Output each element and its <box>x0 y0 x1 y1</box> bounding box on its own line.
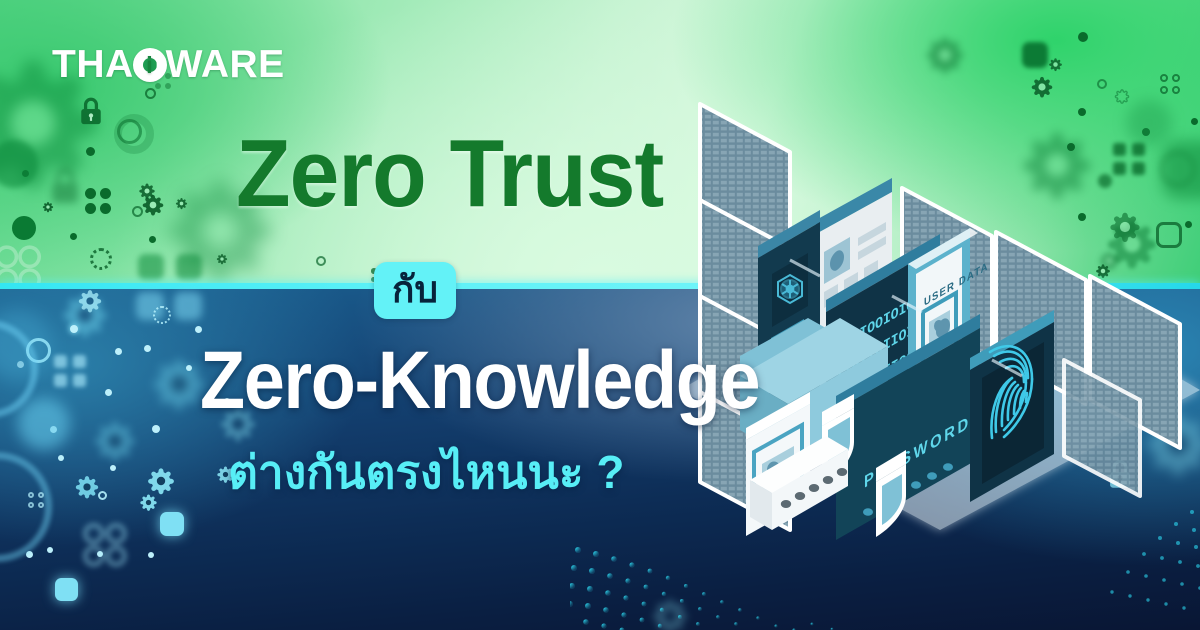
headline-line-2: Zero-Knowledge <box>200 340 759 422</box>
thaiware-logo[interactable]: THA i WARE <box>52 42 285 86</box>
headline-subtitle: ต่างกันตรงไหนนะ ? <box>228 446 624 499</box>
isometric-data-security-illustration: IOIIOOIOIOIII IIOIIOIIOIOIO OIIOIOIIOOII… <box>640 60 1200 560</box>
logo-emblem-icon: i <box>133 48 167 82</box>
logo-wordmark: THA i WARE <box>52 45 285 84</box>
headline-line-1: Zero Trust <box>236 128 663 219</box>
logo-text-after: WARE <box>166 45 285 84</box>
connector-badge-label: กับ <box>392 271 438 308</box>
connector-badge: กับ <box>374 262 456 319</box>
banner-canvas: IOIIOOIOIOIII IIOIIOIIOIOIO OIIOIOIIOOII… <box>0 0 1200 630</box>
logo-text-before: THA <box>52 45 134 84</box>
logo-emblem-letter: i <box>146 54 153 77</box>
